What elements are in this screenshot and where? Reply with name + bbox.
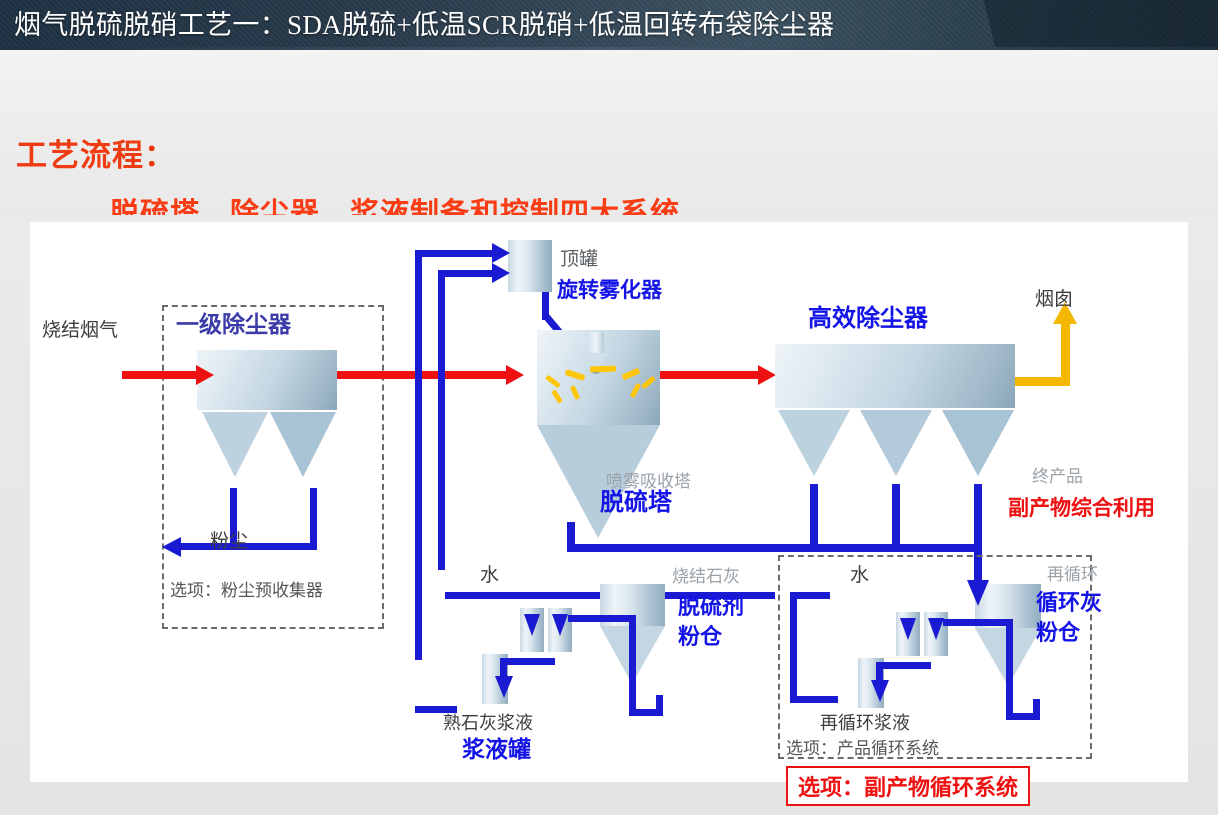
atomizer-nozzle [588, 332, 604, 354]
primary-dust-collector-body [197, 350, 337, 410]
primary-collector-hopper-1 [202, 412, 268, 477]
option-byproduct-loop-label: 选项：副产物循环系统 [786, 766, 1030, 806]
recirculation-faint-label: 再循环 [1047, 560, 1098, 585]
gas-duct-to-tower-head [506, 365, 524, 385]
recirc-slurry-feed-arrow [871, 680, 889, 702]
option-product-loop-label: 选项：产品循环系统 [786, 734, 939, 759]
top-tank-feed-arrow-a [492, 243, 510, 263]
top-tank-feed-riser-a [415, 250, 422, 660]
desulfurizer-silo-label-line2: 粉仓 [678, 624, 722, 649]
slide-title-bar: 烟气脱硫脱硝工艺一：SDA脱硫+低温SCR脱硝+低温回转布袋除尘器 [0, 0, 1218, 47]
option-pre-collector-label: 选项：粉尘预收集器 [170, 576, 323, 601]
ash-drop-pipe-1 [810, 484, 818, 550]
inlet-gas-arrow-head [196, 365, 214, 385]
high-efficiency-hopper-3 [942, 410, 1014, 476]
gas-duct-tower-to-collector [660, 371, 765, 379]
byproduct-utilization-label: 副产物综合利用 [1002, 490, 1161, 524]
process-flow-heading: 工艺流程： [16, 130, 176, 175]
top-tank-feed-arrow-b [492, 263, 510, 283]
top-tank-feed-horizontal-b [438, 270, 495, 277]
top-tank-feed-horizontal-a [415, 250, 495, 257]
slurry-tank-label: 浆液罐 [462, 737, 531, 762]
slurry-tank-left-feed-arrow [495, 676, 513, 698]
primary-collector-hopper-2 [270, 412, 336, 477]
sintered-lime-faint-label: 烧结石灰 [672, 562, 740, 587]
ash-silo-discharge-h-top [943, 619, 1013, 626]
desulfurizer-silo-label-line1: 脱硫剂 [678, 594, 744, 619]
ash-collection-header-line [567, 544, 982, 552]
water-right-supply-h [790, 592, 830, 599]
ash-drop-pipe-2 [892, 484, 900, 550]
water-left-label: 水 [480, 560, 499, 587]
slide-title: 烟气脱硫脱硝工艺一：SDA脱硫+低温SCR脱硝+低温回转布袋除尘器 [14, 3, 834, 42]
rotary-atomizer-label: 旋转雾化器 [557, 278, 662, 303]
process-flow-diagram: 烧结烟气 一级除尘器 粉尘 选项：粉尘预收集器 顶罐 旋转雾化器 [30, 222, 1188, 782]
top-tank-label: 顶罐 [560, 244, 598, 271]
high-efficiency-collector-body [775, 344, 1015, 408]
stack-duct-vertical [1061, 323, 1070, 381]
slurry-return-to-top-tank [415, 706, 457, 713]
heading-area: 工艺流程： 脱硫塔、除尘器、浆液制备和控制四大系统 [0, 50, 1218, 215]
gas-duct-to-tower [337, 371, 512, 379]
spray-dash-5 [590, 366, 616, 373]
inlet-gas-label: 烧结烟气 [42, 315, 118, 342]
top-tank-feed-riser-b [438, 270, 445, 570]
mixing-tank-right-a-arrow [900, 618, 916, 640]
water-right-supply-bottom [790, 696, 838, 703]
ash-silo-discharge-v [1006, 619, 1013, 719]
circulating-ash-silo-label-line2: 粉仓 [1036, 620, 1080, 645]
chimney-label: 烟囱 [1035, 284, 1073, 311]
slurry-tank-left-feed-h [500, 658, 555, 665]
mixing-tank-left-b-arrow [552, 614, 568, 636]
ash-collection-header-riser [567, 522, 575, 550]
dust-drop-pipe-2 [310, 488, 317, 550]
final-product-faint-label: 终产品 [1032, 462, 1083, 487]
mixing-tank-left-a-arrow [524, 614, 540, 636]
ash-into-silo-arrow [967, 580, 989, 606]
recirc-slurry-feed-h [876, 662, 931, 669]
water-right-supply-line [790, 592, 797, 702]
dust-outlet-arrow-head [162, 537, 181, 557]
top-tank-body [508, 240, 552, 292]
ash-silo-discharge-v-stub [1033, 699, 1040, 720]
dust-outlet-horizontal [180, 543, 317, 550]
primary-dust-collector-label: 一级除尘器 [176, 312, 291, 337]
recirculated-slurry-label: 再循环浆液 [820, 709, 910, 735]
inlet-gas-arrow-line [122, 371, 202, 379]
desulfurization-tower-label: 脱硫塔 [600, 490, 672, 515]
dust-label: 粉尘 [210, 526, 248, 553]
gas-duct-tower-to-collector-head [758, 365, 776, 385]
silo-discharge-v-stub [656, 695, 663, 716]
high-efficiency-hopper-1 [778, 410, 850, 476]
silo-discharge-h-top [568, 615, 636, 622]
water-right-label: 水 [850, 560, 869, 587]
high-efficiency-collector-label: 高效除尘器 [808, 306, 928, 331]
mixing-tank-right-b-arrow [928, 618, 944, 640]
high-efficiency-hopper-2 [860, 410, 932, 476]
circulating-ash-silo-label-line1: 循环灰 [1036, 590, 1102, 615]
silo-discharge-v [629, 615, 636, 715]
